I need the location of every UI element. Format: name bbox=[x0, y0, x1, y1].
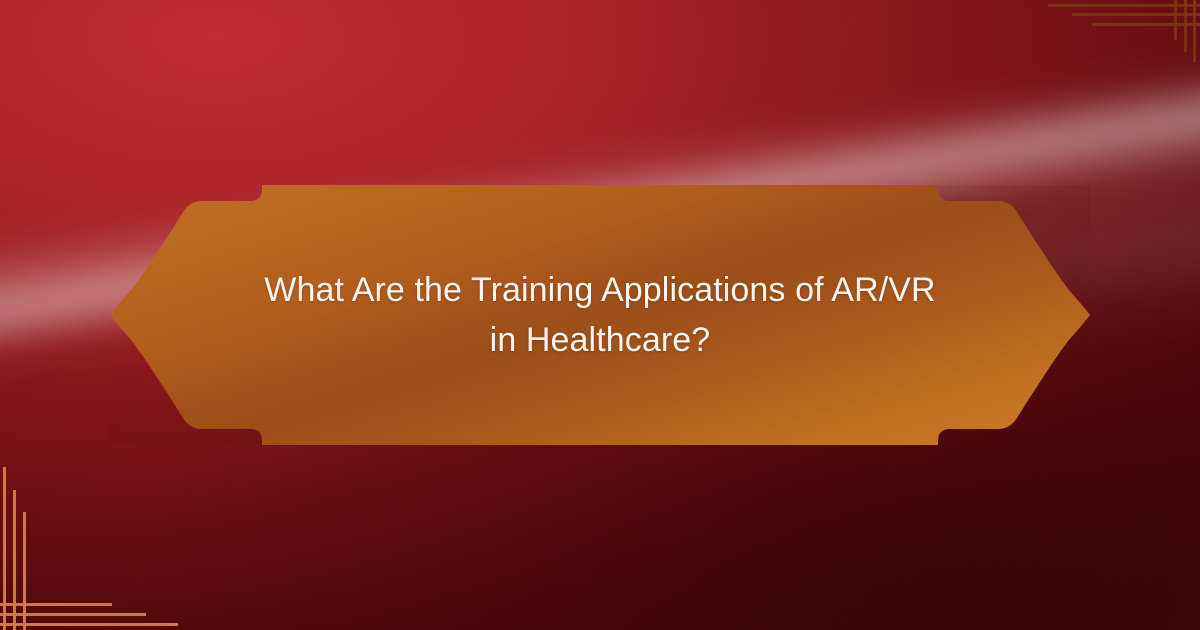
plaque-title-block: What Are the Training Applications of AR… bbox=[110, 265, 1090, 365]
title-line-2: in Healthcare? bbox=[242, 315, 958, 365]
title-plaque: What Are the Training Applications of AR… bbox=[110, 185, 1090, 445]
og-card-canvas: What Are the Training Applications of AR… bbox=[0, 0, 1200, 630]
title-line-1: What Are the Training Applications of AR… bbox=[242, 265, 958, 315]
